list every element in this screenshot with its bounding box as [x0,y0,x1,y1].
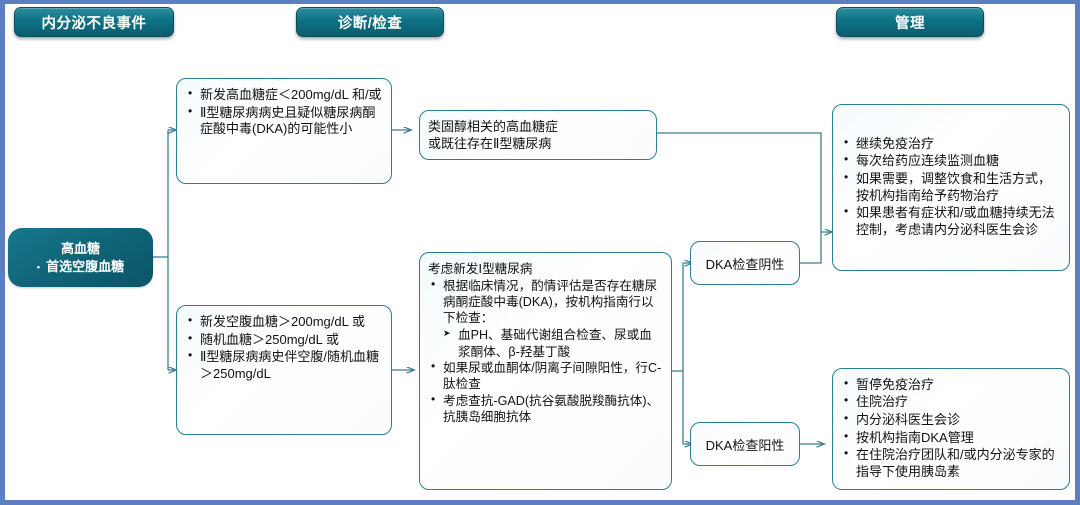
type1-bullet-1: 根据临床情况，酌情评估是否存在糖尿病酮症酸中毒(DKA)，按机构指南行以下检查： [428,278,662,326]
management-bottom-item-5: 在住院治疗团队和/或内分泌专家的指导下使用胰岛素 [841,447,1060,480]
management-box-bottom: 暂停免疫治疗 住院治疗 内分泌科医生会诊 按机构指南DKA管理 在住院治疗团队和… [832,368,1070,490]
header-banner-management-label: 管理 [895,12,925,33]
type1-bullet-2: 如果尿或血酮体/阴离子间隙阳性，行C-肽检查 [428,360,662,392]
header-banner-diagnosis: 诊断/检查 [296,7,444,37]
criteria-box-top: 新发高血糖症＜200mg/dL 和/或 Ⅱ型糖尿病病史且疑似糖尿病酮症酸中毒(D… [176,78,392,184]
start-node-bullet: 首选空腹血糖 [37,258,124,276]
management-top-item-3: 如果需要，调整饮食和生活方式，按机构指南给予药物治疗 [841,171,1060,204]
start-node-title: 高血糖 [61,240,100,258]
header-banner-adverse-event: 内分泌不良事件 [14,7,174,37]
header-banner-adverse-event-label: 内分泌不良事件 [42,12,147,33]
criteria-box-bottom: 新发空腹血糖＞200mg/dL 或 随机血糖＞250mg/dL 或 Ⅱ型糖尿病病… [176,305,392,435]
management-bottom-item-3: 内分泌科医生会诊 [841,412,1060,429]
management-top-item-4: 如果患者有症状和/或血糖持续无法控制，考虑请内分泌科医生会诊 [841,205,1060,238]
type1-diabetes-workup-box: 考虑新发Ⅰ型糖尿病 根据临床情况，酌情评估是否存在糖尿病酮症酸中毒(DKA)，按… [419,252,672,490]
steroid-related-box: 类固醇相关的高血糖症 或既往存在Ⅱ型糖尿病 [419,110,657,160]
dka-negative-label: DKA检查阴性 [706,254,785,273]
header-banner-diagnosis-label: 诊断/检查 [338,12,403,33]
management-top-item-2: 每次给药应连续监测血糖 [841,153,1060,170]
dka-positive-box: DKA检查阳性 [690,422,800,466]
criteria-bottom-item-2: 随机血糖＞250mg/dL 或 [185,332,382,349]
management-bottom-item-1: 暂停免疫治疗 [841,377,1060,394]
criteria-bottom-item-1: 新发空腹血糖＞200mg/dL 或 [185,314,382,331]
steroid-related-line-2: 或既往存在Ⅱ型糖尿病 [428,136,647,153]
dka-negative-box: DKA检查阴性 [690,241,800,285]
management-box-top: 继续免疫治疗 每次给药应连续监测血糖 如果需要，调整饮食和生活方式，按机构指南给… [832,104,1070,271]
start-node-hyperglycemia: 高血糖 首选空腹血糖 [8,228,153,287]
criteria-top-item-2: Ⅱ型糖尿病病史且疑似糖尿病酮症酸中毒(DKA)的可能性小 [185,105,382,138]
steroid-related-line-1: 类固醇相关的高血糖症 [428,119,647,136]
header-banner-management: 管理 [836,7,984,37]
criteria-top-item-1: 新发高血糖症＜200mg/dL 和/或 [185,87,382,104]
management-bottom-item-4: 按机构指南DKA管理 [841,430,1060,447]
type1-bullet-3: 考虑查抗-GAD(抗谷氨酸脱羧酶抗体)、抗胰岛细胞抗体 [428,393,662,425]
dka-positive-label: DKA检查阳性 [706,435,785,454]
criteria-bottom-item-3: Ⅱ型糖尿病病史伴空腹/随机血糖＞250mg/dL [185,349,382,382]
management-top-item-1: 继续免疫治疗 [841,136,1060,153]
management-bottom-item-2: 住院治疗 [841,394,1060,411]
type1-heading: 考虑新发Ⅰ型糖尿病 [428,261,662,277]
flowchart-canvas: 内分泌不良事件 诊断/检查 管理 高血糖 首选空腹血糖 新发高血糖症＜200mg… [0,0,1080,505]
type1-sub-bullet-1: 血PH、基础代谢组合检查、尿或血浆酮体、β-羟基丁酸 [443,327,662,359]
